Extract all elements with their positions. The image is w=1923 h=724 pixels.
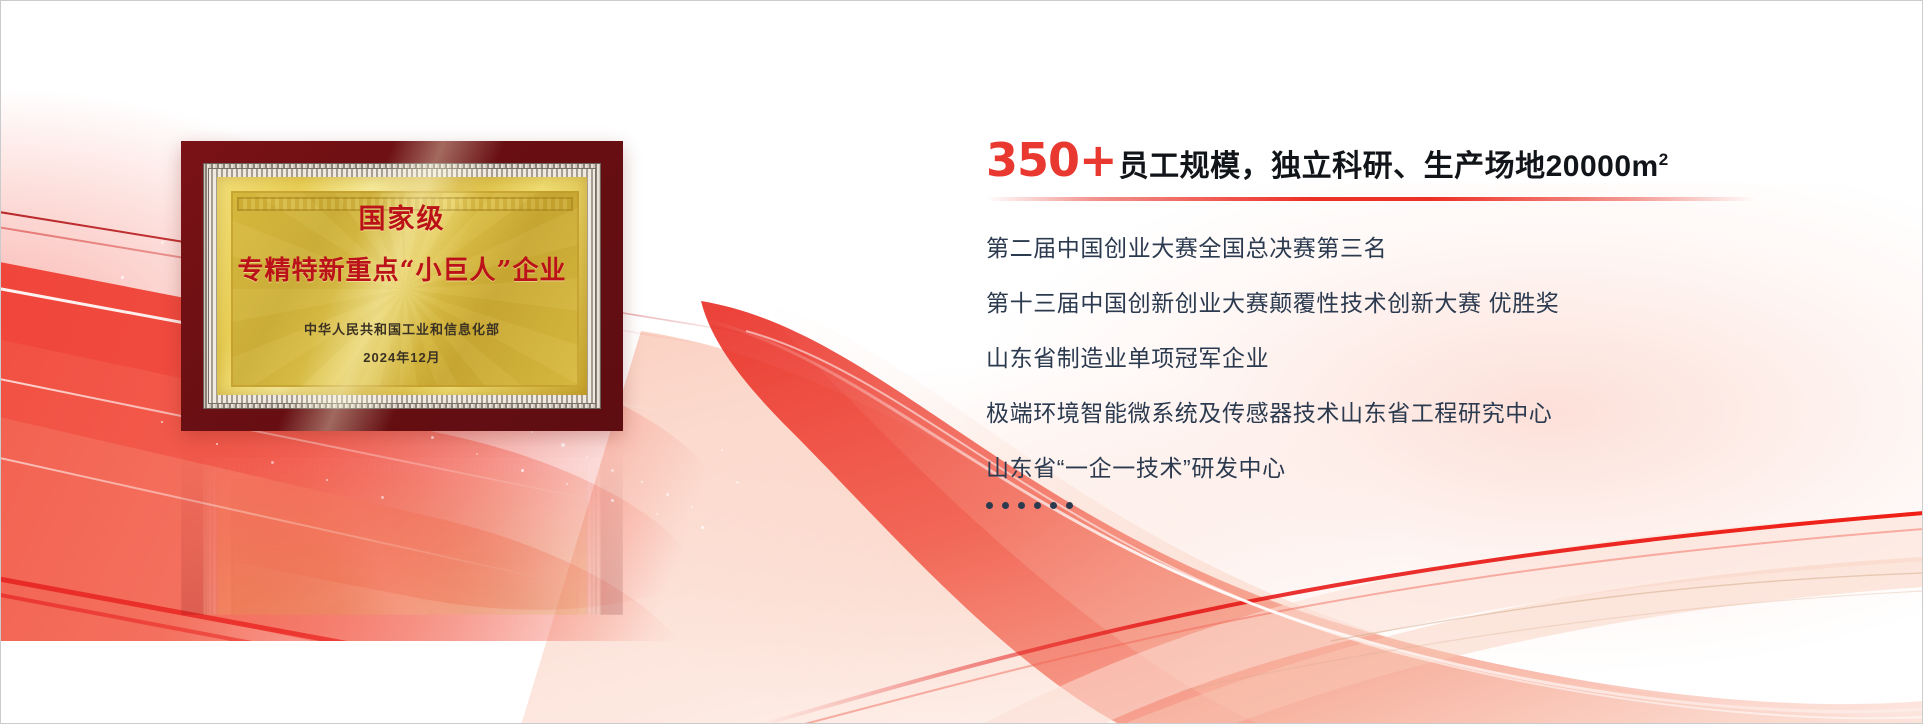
plaque-issuer: 中华人民共和国工业和信息化部 xyxy=(304,319,500,338)
list-item: 第十三届中国创新创业大赛颠覆性技术创新大赛 优胜奖 xyxy=(986,292,1866,315)
more-indicator xyxy=(986,502,1866,509)
headline-superscript: 2 xyxy=(1659,150,1669,169)
headline-underline xyxy=(986,197,1756,201)
headline-number: 350+ xyxy=(986,133,1117,187)
headline: 350+ 员工规模，独立科研、生产场地20000m2 xyxy=(986,133,1866,187)
plaque-text-block: 国家级 专精特新重点“小巨人”企业 中华人民共和国工业和信息化部 2024年12… xyxy=(181,141,623,431)
content-column: 350+ 员工规模，独立科研、生产场地20000m2 第二届中国创业大赛全国总决… xyxy=(986,133,1866,509)
award-plaque: 国家级 专精特新重点“小巨人”企业 中华人民共和国工业和信息化部 2024年12… xyxy=(181,141,623,431)
plaque-subtitle: 专精特新重点“小巨人”企业 xyxy=(238,250,567,287)
list-item: 山东省“一企一技术”研发中心 xyxy=(986,457,1866,480)
plaque-title: 国家级 xyxy=(359,197,446,236)
list-item: 山东省制造业单项冠军企业 xyxy=(986,347,1866,370)
headline-text: 员工规模，独立科研、生产场地20000m2 xyxy=(1119,141,1669,185)
headline-body: 员工规模，独立科研、生产场地20000m xyxy=(1119,150,1659,183)
plaque-date: 2024年12月 xyxy=(363,347,440,366)
list-item: 第二届中国创业大赛全国总决赛第三名 xyxy=(986,237,1866,260)
list-item: 极端环境智能微系统及传感器技术山东省工程研究中心 xyxy=(986,402,1866,425)
achievements-list: 第二届中国创业大赛全国总决赛第三名 第十三届中国创新创业大赛颠覆性技术创新大赛 … xyxy=(986,237,1866,509)
award-banner: 国家级 专精特新重点“小巨人”企业 中华人民共和国工业和信息化部 2024年12… xyxy=(0,0,1923,724)
